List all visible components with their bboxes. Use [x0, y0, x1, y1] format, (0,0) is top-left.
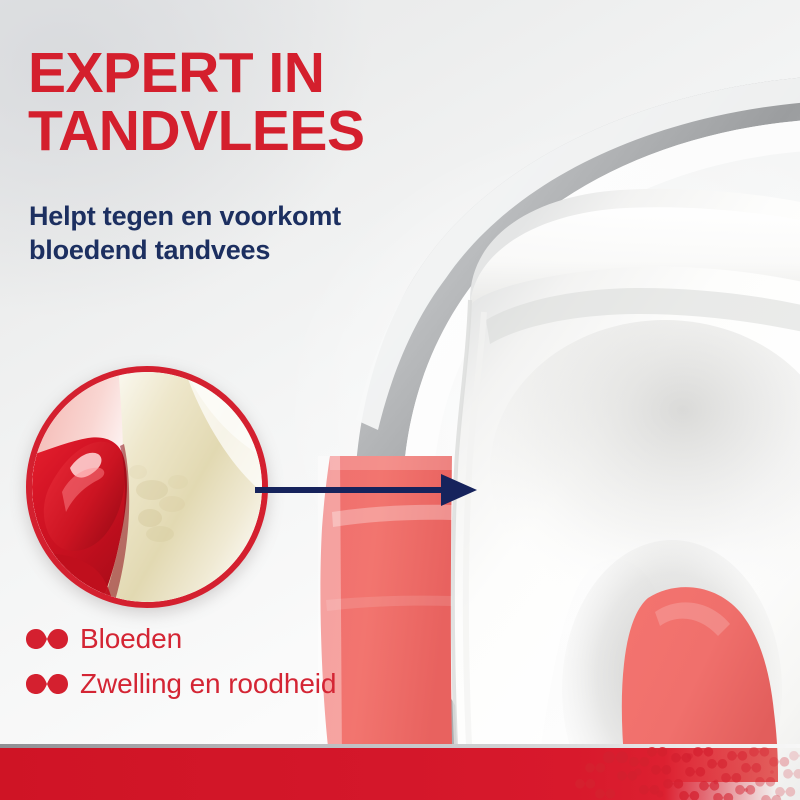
- tooth-left-contour-inner: [466, 312, 484, 800]
- gum-left: [320, 456, 453, 764]
- subheadline: Helpt tegen en voorkomt bloedend tandvee…: [29, 199, 449, 268]
- dumbbell-bullet-icon: [24, 671, 70, 697]
- tooth-crown-shadow: [490, 320, 800, 620]
- tooth-body: [454, 189, 800, 800]
- pointer-arrow: [255, 470, 485, 510]
- bottom-red-band: [0, 744, 800, 800]
- magnifier-content: [32, 372, 262, 602]
- tooth-crown-surface: [470, 207, 800, 306]
- symptom-list: Bloeden Zwelling en roodheid: [24, 616, 444, 706]
- gum-inflammation-magnifier: [26, 366, 268, 608]
- gum-left-top-highlight: [330, 456, 452, 470]
- gum-left-texture: [332, 505, 452, 527]
- tooth-occlusal-groove: [486, 288, 800, 348]
- list-item: Zwelling en roodheid: [24, 661, 444, 706]
- gum-right-highlight: [655, 602, 730, 636]
- list-item-label: Bloeden: [80, 625, 182, 653]
- arrow-head: [441, 474, 477, 506]
- gum-left-texture-2: [326, 596, 452, 611]
- dissolving-dumbbell-pattern: [0, 744, 800, 800]
- dumbbell-bullet-icon: [24, 626, 70, 652]
- tooth-left-contour: [453, 300, 470, 800]
- headline: EXPERT IN TANDVLEES: [28, 44, 458, 160]
- gum-left-edge-fade: [318, 456, 342, 764]
- list-item-label: Zwelling en roodheid: [80, 670, 336, 698]
- advertisement-canvas: EXPERT IN TANDVLEES Helpt tegen en voork…: [0, 0, 800, 800]
- list-item: Bloeden: [24, 616, 444, 661]
- grey-arc-highlight: [402, 118, 800, 800]
